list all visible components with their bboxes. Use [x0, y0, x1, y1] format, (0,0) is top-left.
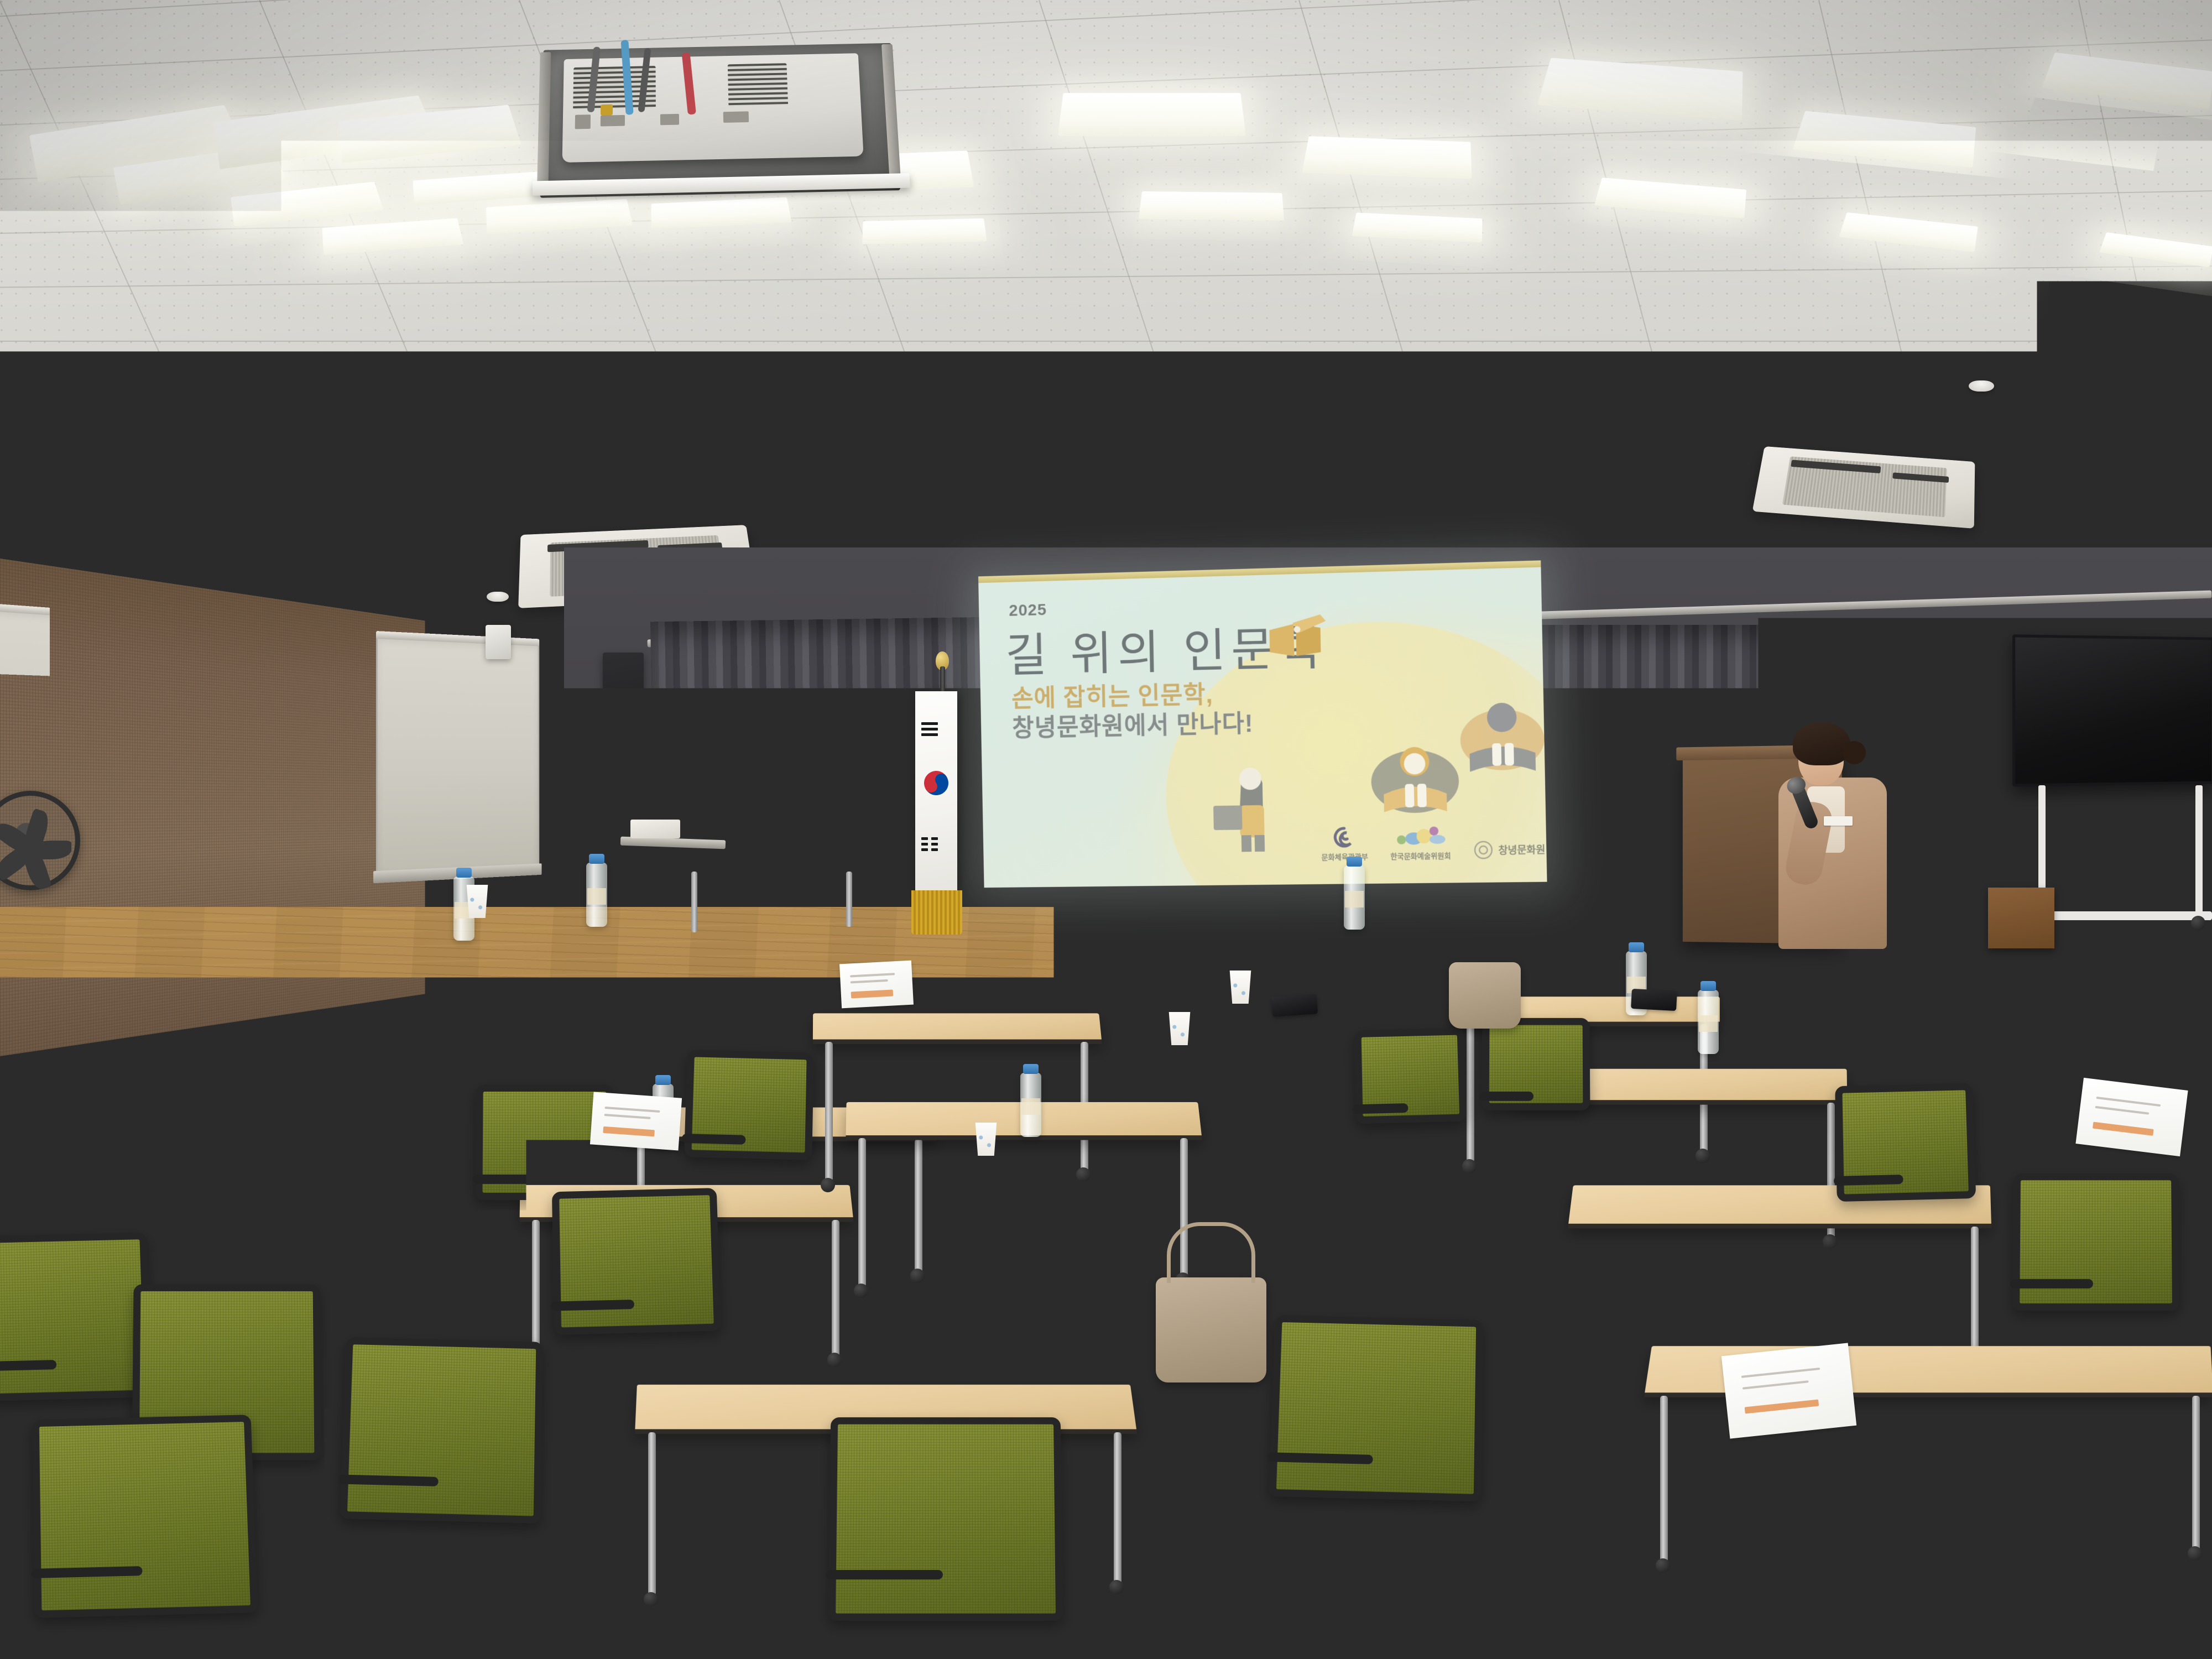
stand-leg — [2195, 785, 2203, 914]
chair-armrest — [981, 1219, 1056, 1229]
desk-caster — [644, 1592, 658, 1606]
presenter-hair — [1793, 722, 1850, 765]
desk-leg — [2192, 1396, 2200, 1552]
person-hair — [1744, 868, 1812, 924]
ceiling-light-panel — [1302, 136, 1472, 179]
person-reading-book-icon — [1453, 692, 1547, 790]
projector-port — [601, 115, 625, 127]
desk-leg — [1583, 1227, 1590, 1382]
display-rolling-stand — [2030, 785, 2212, 929]
chair-armrest — [472, 1175, 542, 1184]
chair-armrest — [1353, 1103, 1408, 1114]
chair-mesh — [347, 1344, 536, 1516]
chair-armrest — [2010, 1279, 2093, 1288]
person-hair — [1598, 857, 1664, 910]
desk-caster — [1462, 1159, 1477, 1173]
phoenix-icon-left — [1563, 675, 1605, 745]
presenter-hair-bun — [1843, 741, 1866, 764]
person-hair — [525, 862, 591, 915]
chair[interactable] — [0, 1232, 152, 1401]
person-hair — [1724, 1099, 1854, 1204]
changnyeong-seal-icon — [1473, 840, 1494, 860]
desk-caster — [1578, 1379, 1593, 1393]
korean-national-flag — [915, 691, 957, 890]
chair-mesh — [39, 1422, 251, 1610]
phoenix-icon-right — [1608, 675, 1650, 745]
taeguk-symbol — [919, 766, 953, 800]
slide-subtitle-2: 창녕문화원에서 만나다! — [1012, 703, 1254, 743]
audience-member — [1029, 896, 1203, 1140]
chair-armrest — [1479, 1092, 1533, 1101]
projector-port — [575, 114, 591, 129]
person-hair — [1131, 845, 1194, 896]
banner-cloth — [1561, 665, 1653, 814]
ceremonial-banner — [1548, 641, 1667, 818]
audience-member — [1239, 852, 1381, 1051]
stand-base — [2030, 911, 2212, 920]
person-hair — [845, 896, 918, 956]
person-hair — [2022, 966, 2114, 1040]
lecture-hall-photo: 2025 길 위의 인문학 손에 잡히는 인문학, 창녕문화원에서 만나다! — [0, 0, 2212, 1659]
desk-leg — [1527, 1103, 1535, 1249]
projector-port — [723, 111, 749, 123]
chair[interactable] — [828, 1417, 1063, 1621]
person-hair — [144, 899, 230, 968]
audience-member — [1648, 1078, 1930, 1473]
government-emblem-icon — [1582, 750, 1632, 800]
projector-connector — [601, 105, 613, 116]
hanging-speaker — [603, 653, 644, 780]
person-hair — [416, 852, 485, 907]
ceiling-projector-lift — [511, 11, 942, 233]
duffel-bag[interactable] — [647, 1394, 780, 1521]
chair-mesh — [836, 1425, 1056, 1614]
chair-armrest — [826, 1570, 943, 1579]
ceiling-light-panel — [1139, 191, 1284, 221]
ceiling-seam — [0, 341, 2212, 342]
person-hair — [1277, 862, 1343, 915]
ceiling-light-panel — [1058, 93, 1246, 136]
bag-strap — [1167, 1222, 1255, 1283]
audience-member — [1969, 951, 2168, 1230]
audience-member — [1559, 846, 1702, 1046]
presenter-nametag — [1824, 816, 1853, 826]
chair-mesh — [1276, 1322, 1476, 1494]
audience-member — [619, 1034, 877, 1394]
smoke-detector-icon — [487, 592, 509, 602]
projector-cable — [682, 52, 696, 115]
person-hair — [689, 1053, 807, 1149]
slide-year: 2025 — [1009, 601, 1047, 620]
banner-tassel-right — [1653, 668, 1668, 773]
person-hair — [290, 956, 389, 1037]
audience-member — [487, 852, 629, 1051]
desk-leg — [1114, 1432, 1121, 1585]
person-hair — [670, 873, 737, 928]
desk-caster — [1523, 1245, 1537, 1260]
chair-mesh — [0, 1239, 145, 1394]
chair[interactable] — [32, 1415, 258, 1618]
person-hair — [1076, 909, 1156, 974]
desk-leg — [1467, 1024, 1474, 1162]
wall-display[interactable] — [2012, 634, 2212, 787]
audience-member — [232, 940, 448, 1242]
stand-caster — [2191, 916, 2205, 930]
projector-body — [562, 53, 864, 163]
desk-caster — [2188, 1546, 2202, 1561]
seated-reader-icon — [1364, 727, 1467, 830]
projector-vent — [728, 63, 788, 106]
projector-port — [660, 114, 679, 125]
wall-speaker — [486, 625, 511, 659]
person-hair — [1740, 954, 1832, 1029]
open-book-with-quill-icon — [1267, 613, 1329, 662]
shoulder-bag[interactable] — [1156, 1277, 1266, 1383]
desk-caster — [1656, 1558, 1670, 1573]
chair[interactable] — [1269, 1315, 1483, 1501]
chair[interactable] — [340, 1337, 543, 1524]
smoke-detector-icon — [1969, 380, 1994, 392]
